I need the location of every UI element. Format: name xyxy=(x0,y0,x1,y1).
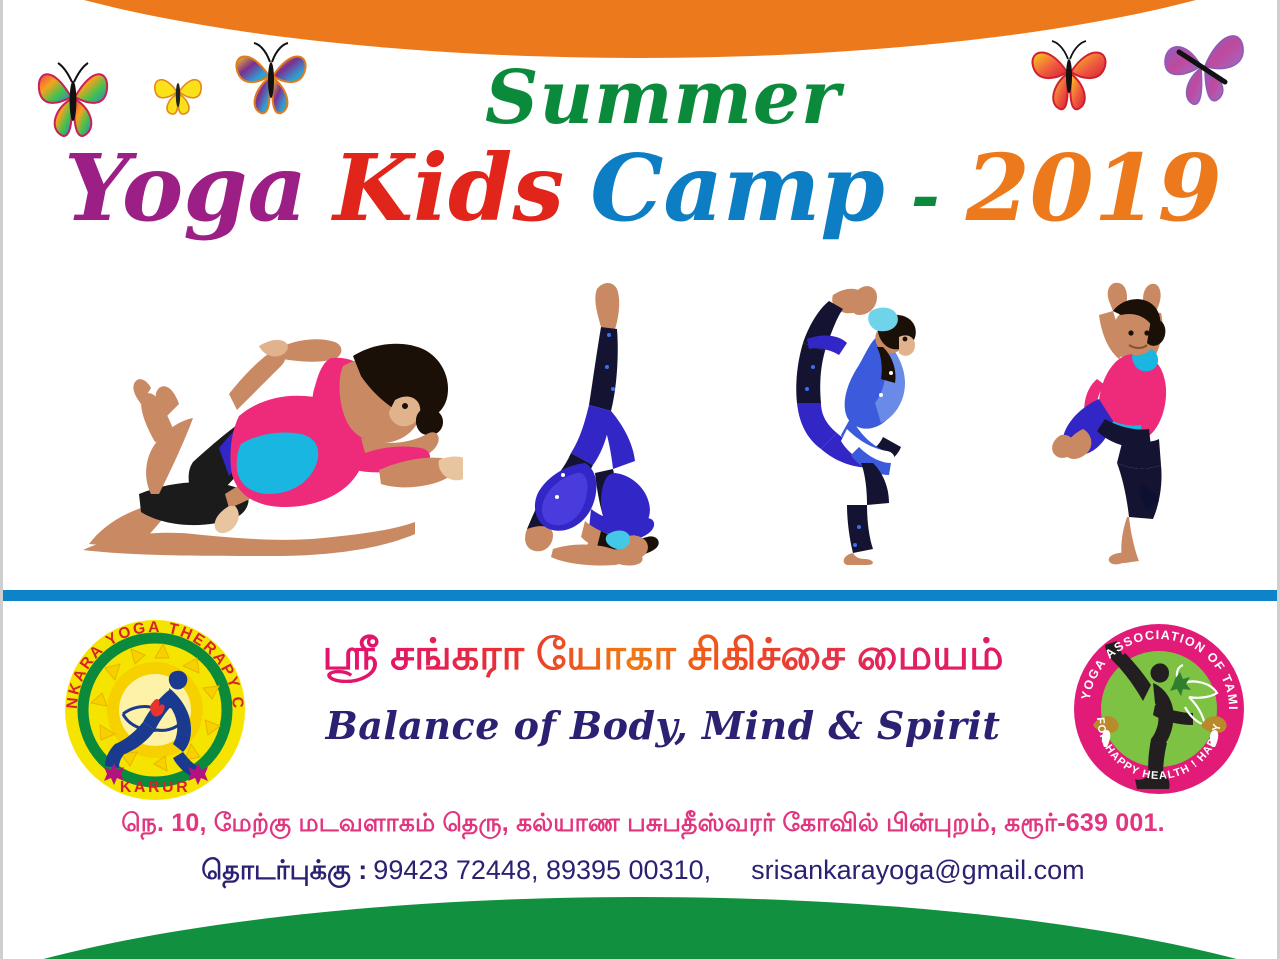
photo-forearm-stand-girl xyxy=(523,277,683,567)
poster-title: Summer Yoga Kids Camp - 2019 xyxy=(3,60,1280,236)
title-word-yoga: Yoga xyxy=(64,140,307,237)
logo-left-city-text: KARUR xyxy=(120,779,190,796)
address-line: நெ. 10, மேற்கு மடவளாகம் தெரு, கல்யாண பசு… xyxy=(3,809,1280,841)
title-word-kids: Kids xyxy=(333,140,564,237)
org-tagline: Balance of Body, Mind & Spirit xyxy=(258,703,1068,748)
phone-email-line: தொடர்புக்கு : 99423 72448, 89395 00310, … xyxy=(3,855,1280,890)
phone-numbers: 99423 72448, 89395 00310, xyxy=(373,855,711,886)
sri-sankara-logo: SRI SANKARA YOGA THERAPY CENTER KARUR xyxy=(53,610,258,810)
poster-canvas: Summer Yoga Kids Camp - 2019 xyxy=(0,0,1280,959)
email-address[interactable]: srisankarayoga@gmail.com xyxy=(751,855,1085,886)
bottom-green-arc xyxy=(0,897,1280,959)
title-summer: Summer xyxy=(3,60,1280,138)
contact-block: நெ. 10, மேற்கு மடவளாகம் தெரு, கல்யாண பசு… xyxy=(3,809,1280,890)
section-divider xyxy=(3,590,1280,601)
school-yoga-association-logo: SCHOOL YOGA ASSOCIATION OF TAMILNADU. YO… xyxy=(1071,621,1246,796)
title-main-line: Yoga Kids Camp - 2019 xyxy=(3,140,1280,237)
photo-bow-pose-girl xyxy=(43,298,463,563)
photo-standing-balance-girl xyxy=(1043,279,1213,569)
yoga-photo-strip xyxy=(3,275,1280,575)
title-word-camp: Camp xyxy=(590,140,885,237)
phone-label: தொடர்புக்கு : xyxy=(201,855,367,890)
title-year: 2019 xyxy=(966,140,1222,237)
organization-block: SRI SANKARA YOGA THERAPY CENTER KARUR ஸ்… xyxy=(3,601,1280,901)
photo-standing-bow-girl xyxy=(763,277,923,567)
org-tamil-name: ஸ்ரீ சங்கரா யோகா சிகிச்சை மையம் xyxy=(258,629,1068,683)
organization-name-block: ஸ்ரீ சங்கரா யோகா சிகிச்சை மையம் Balance … xyxy=(258,615,1068,748)
title-dash: - xyxy=(911,159,940,233)
